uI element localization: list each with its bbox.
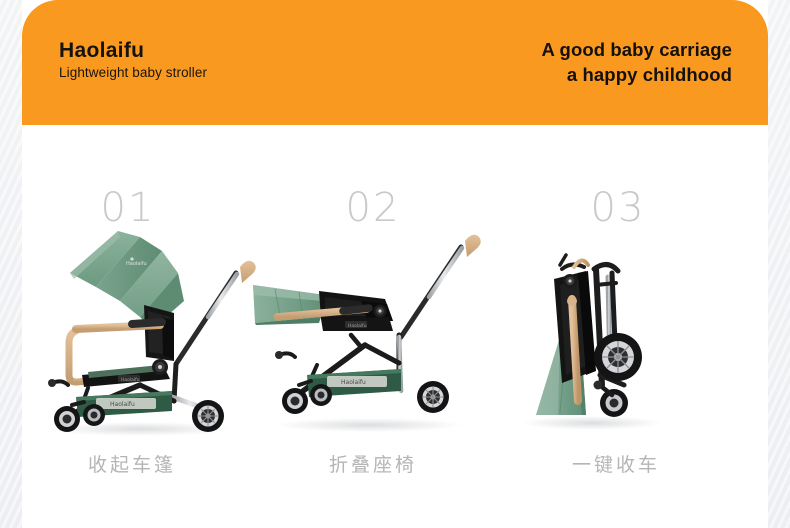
feature-caption-2: 折叠座椅 [249, 450, 497, 477]
brand-block: Haolaifu Lightweight baby stroller [59, 40, 207, 81]
svg-text:Haolaifu: Haolaifu [126, 261, 147, 267]
svg-text:Haolaifu: Haolaifu [341, 379, 366, 386]
slogan-line-2: a happy childhood [542, 63, 732, 88]
feature-number-3: 03 [494, 188, 742, 228]
slogan-block: A good baby carriage a happy childhood [542, 38, 732, 87]
feature-caption-1: 收起车篷 [8, 450, 256, 477]
feature-column-3: 03 [474, 125, 722, 528]
right-background-strip [768, 0, 790, 528]
brand-tagline: Lightweight baby stroller [59, 66, 207, 81]
svg-text:Haolaifu: Haolaifu [348, 323, 367, 329]
slogan-line-1: A good baby carriage [542, 38, 732, 63]
feature-number-2: 02 [249, 188, 497, 228]
left-background-strip [0, 0, 22, 528]
brand-name: Haolaifu [59, 40, 207, 62]
product-feature-banner: Haolaifu Lightweight baby stroller A goo… [0, 0, 790, 528]
feature-column-1: 01 [22, 125, 270, 528]
stroller-canopy-up-illustration: Haolaifu Haolaifu [22, 225, 270, 440]
header-banner: Haolaifu Lightweight baby stroller A goo… [22, 0, 768, 125]
feature-column-2: 02 [249, 125, 497, 528]
stroller-seat-folded-illustration: Haolaifu [249, 225, 497, 440]
feature-caption-3: 一键收车 [492, 450, 740, 477]
svg-text:Haolaifu: Haolaifu [121, 377, 140, 383]
svg-text:Haolaifu: Haolaifu [110, 401, 135, 408]
feature-columns: 01 [22, 125, 768, 528]
stroller-fully-folded-illustration [474, 225, 722, 440]
feature-number-1: 01 [4, 188, 252, 228]
